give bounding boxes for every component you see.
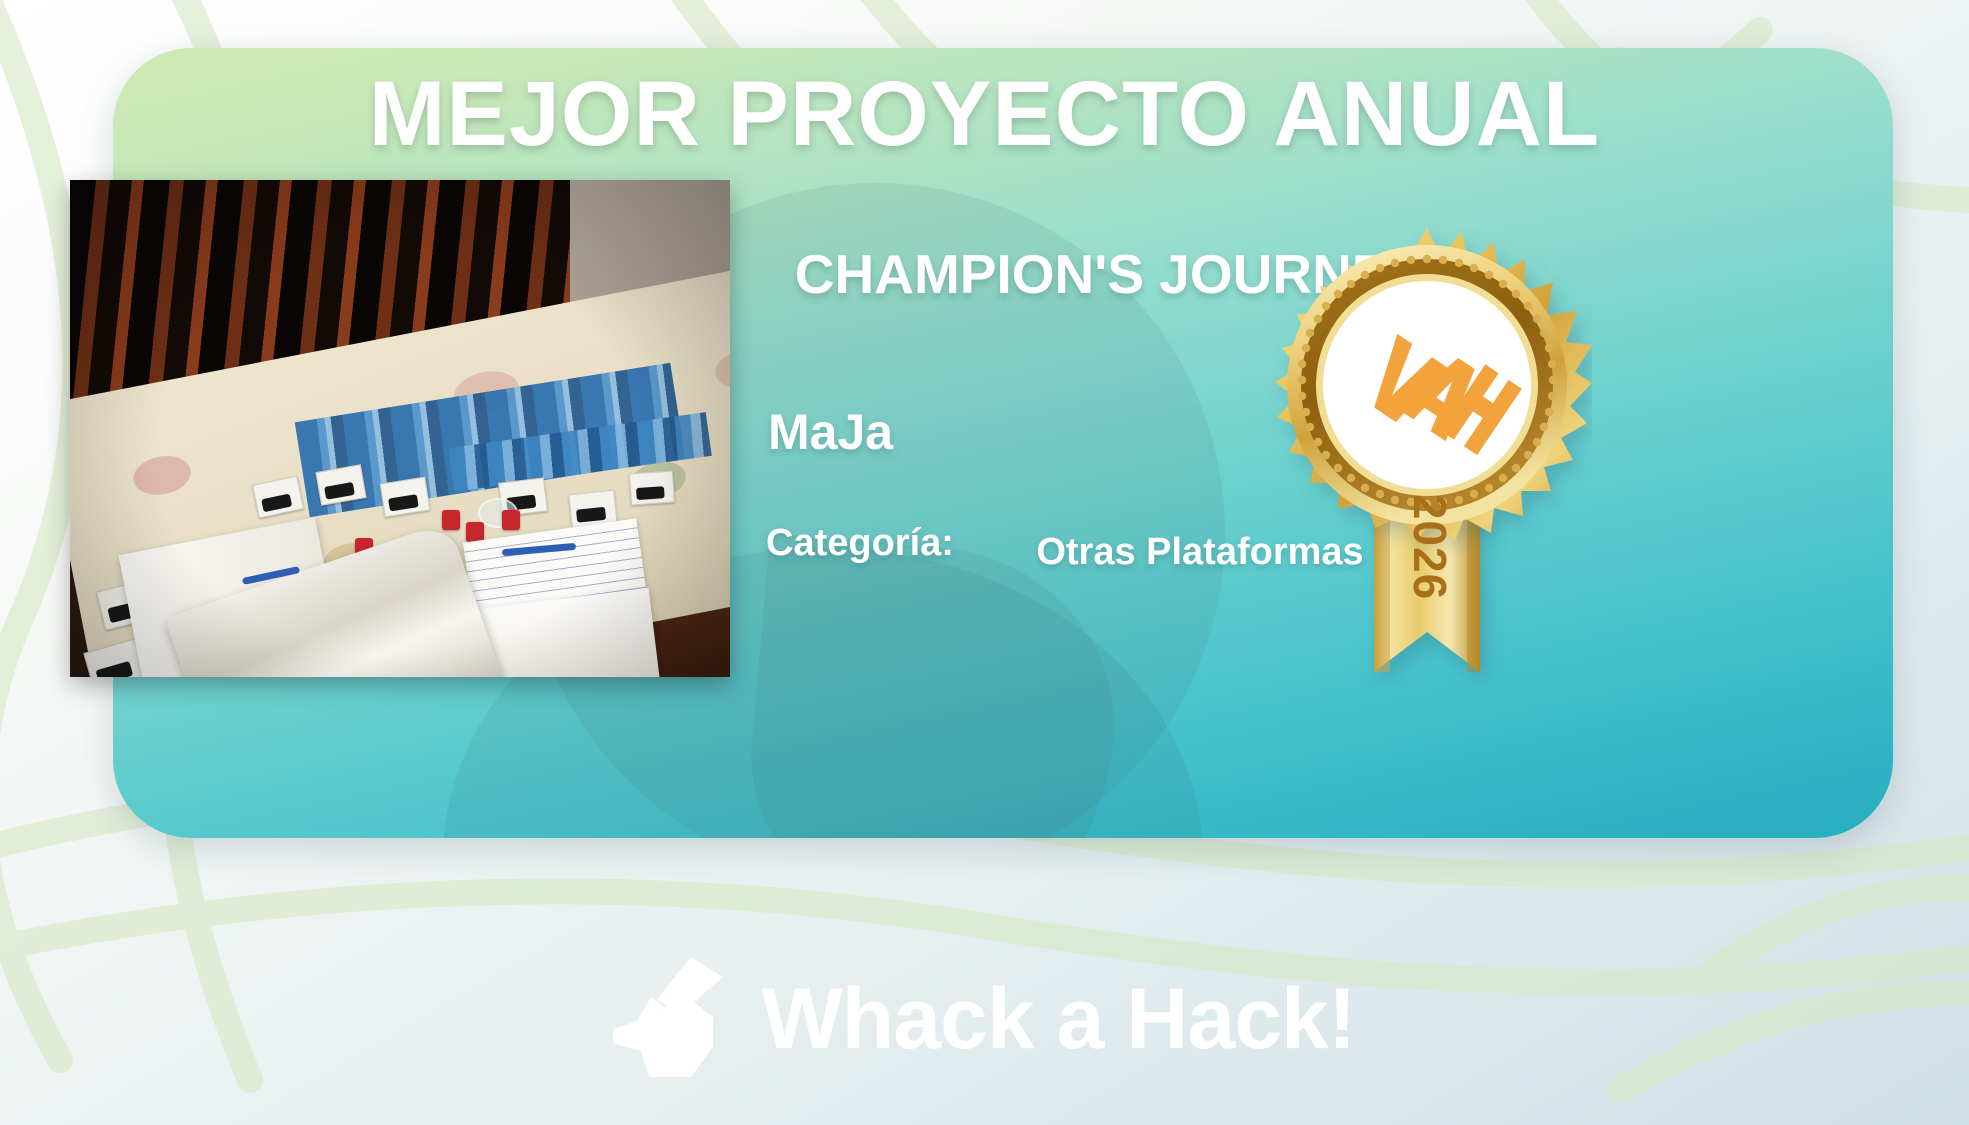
- award-title: MEJOR PROYECTO ANUAL: [0, 62, 1969, 167]
- award-card-stage: MEJOR PROYECTO ANUAL: [0, 0, 1969, 1125]
- category-label: Categoría:: [766, 522, 954, 565]
- seal-year: 2026: [1403, 487, 1457, 607]
- brand-name: Whack a Hack!: [761, 970, 1355, 1069]
- award-rosette-icon: [1262, 220, 1592, 690]
- mole-logo-icon: [613, 955, 731, 1083]
- award-seal: 2026: [1262, 220, 1592, 690]
- project-photo: [70, 180, 730, 677]
- photo-vignette: [70, 180, 730, 677]
- team-name: MaJa: [768, 403, 893, 461]
- brand-footer: Whack a Hack!: [0, 955, 1969, 1083]
